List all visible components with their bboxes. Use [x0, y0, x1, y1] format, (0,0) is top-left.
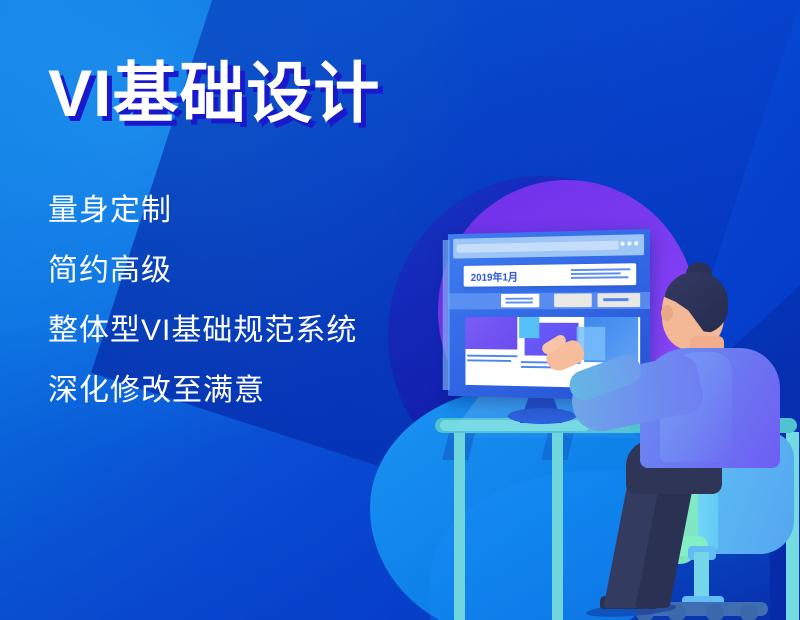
search-bar-lines: [571, 268, 630, 281]
content-card-2-accent: [519, 317, 539, 338]
feature-item-1: 量身定制: [48, 196, 468, 226]
chair-caster: [740, 604, 758, 620]
promo-banner: VI基础设计 量身定制 简约高级 整体型VI基础规范系统 深化修改至满意: [0, 0, 800, 620]
toolbar-chip-2: [554, 293, 592, 307]
content-card-1-lines: [467, 355, 517, 365]
browser-title-bar: [453, 234, 644, 258]
monitor-base: [508, 408, 576, 424]
window-controls-icon: [621, 241, 639, 245]
browser-title-bar-inner: [457, 241, 619, 253]
toolbar-chip-1: [501, 294, 539, 308]
desk-leg-right: [552, 430, 563, 620]
content-card-1: [465, 317, 517, 350]
search-input-value: 2019年1月: [471, 269, 518, 285]
chair-caster: [706, 604, 724, 620]
page-title: VI基础设计: [48, 60, 380, 126]
monitor-left-edge: [443, 240, 450, 390]
person-ear: [661, 305, 673, 321]
search-input[interactable]: 2019年1月: [464, 263, 637, 286]
toolbar-chip-3: [598, 293, 641, 307]
desk-leg-left: [454, 430, 465, 620]
